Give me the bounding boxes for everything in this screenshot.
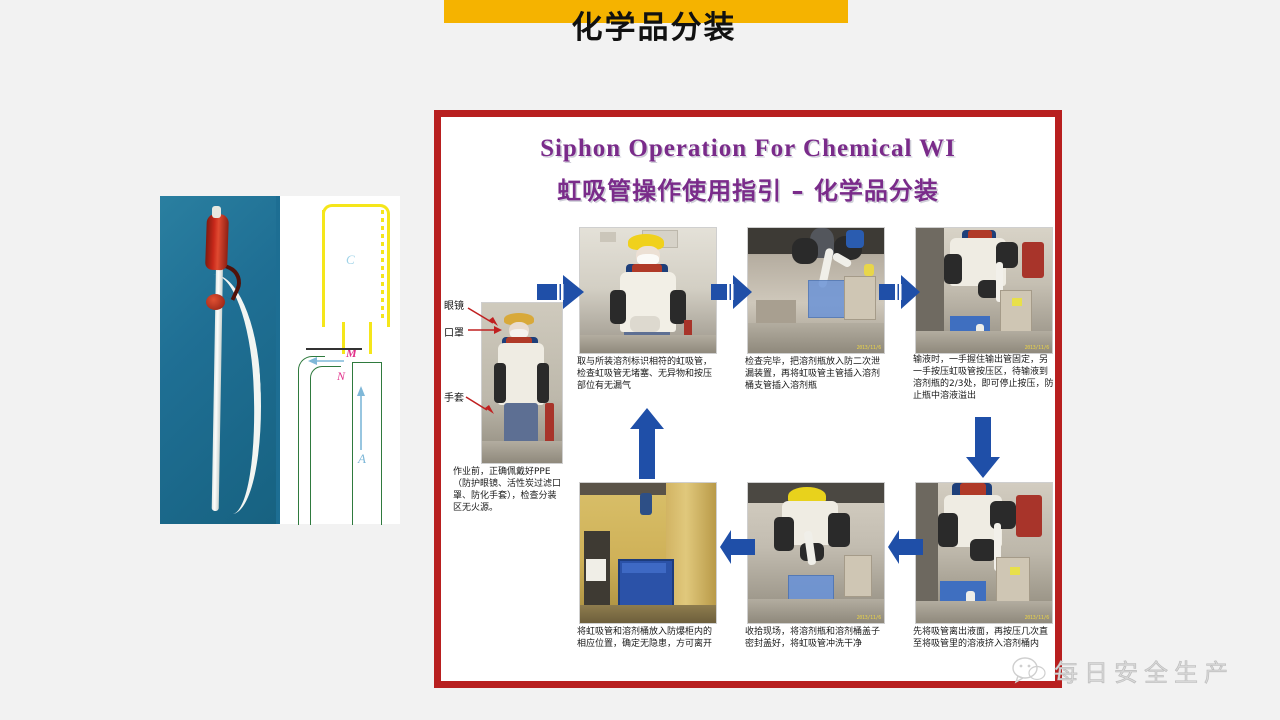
- ppe-label-mask: 口罩: [443, 324, 465, 339]
- diagram-outlet-pipe-inner: [310, 366, 341, 525]
- step-1-caption: 作业前，正确佩戴好PPE（防护眼镜、活性炭过滤口罩、防化手套），检查分装区无火源…: [453, 467, 565, 515]
- siphon-tube-curve: [196, 273, 267, 516]
- watermark-text: 每日安全生产: [1054, 653, 1234, 688]
- diagram-bulb-outline: [322, 204, 390, 327]
- wechat-bubble-icon: [1012, 655, 1046, 685]
- poster-heading-english: Siphon Operation For Chemical WI: [441, 135, 1055, 163]
- step-4-photo: 2013/11/6: [915, 227, 1053, 354]
- watermark: 每日安全生产: [1012, 648, 1268, 692]
- flow-arrow-5-to-6: [887, 529, 923, 565]
- siphon-bulb-tip: [212, 206, 221, 218]
- page-title: 化学品分装: [444, 1, 864, 47]
- step-6-caption: 收拾现场，将溶剂瓶和溶剂桶盖子密封盖好，将虹吸管冲洗干净: [745, 627, 887, 651]
- step-6-date-stamp: 2013/11/6: [857, 615, 881, 621]
- flow-arrow-3-to-4: [879, 274, 921, 310]
- step-5-date-stamp: 2013/11/6: [1025, 615, 1049, 621]
- poster-panel: Siphon Operation For Chemical WI 虹吸管操作使用…: [434, 110, 1062, 688]
- siphon-pump-photo: [160, 196, 276, 524]
- ppe-label-gloves: 手套: [443, 389, 465, 404]
- diagram-bulb-zigzag-right: [381, 210, 384, 322]
- flow-arrow-7-to-2: [629, 407, 665, 479]
- ppe-arrow-mask: [467, 325, 503, 335]
- step-5-photo: 2013/11/6: [915, 482, 1053, 624]
- flow-arrow-4-to-5: [965, 417, 1001, 479]
- step-4-date-stamp: 2013/11/6: [1025, 345, 1049, 351]
- flow-arrow-2-to-3: [711, 274, 753, 310]
- step-4-caption: 输液时，一手握住输出管固定，另一手按压虹吸管按压区，待输液到溶剂瓶的2/3处，即…: [913, 355, 1055, 403]
- step-3-caption: 检查完毕，把溶剂瓶放入防二次泄漏装置，再将虹吸管主管插入溶剂桶支管插入溶剂瓶: [745, 357, 887, 393]
- step-2-photo: [579, 227, 717, 354]
- ppe-label-goggles: 眼镜: [443, 297, 465, 312]
- step-2-caption: 取与所装溶剂标识相符的虹吸管，检查虹吸管无堵塞、无异物和按压部位有无漏气: [577, 357, 719, 393]
- step-7-photo: [579, 482, 717, 624]
- siphon-collar: [206, 294, 225, 310]
- left-figure-group: C M N A: [160, 196, 400, 524]
- step-3-date-stamp: 2013/11/6: [857, 345, 881, 351]
- siphon-principle-diagram: C M N A: [276, 196, 400, 524]
- ppe-arrow-gloves: [465, 395, 495, 415]
- diagram-flow-arrow-in: [356, 386, 366, 450]
- diagram-cap-line: [306, 348, 362, 350]
- step-6-photo: 2013/11/6: [747, 482, 885, 624]
- siphon-bulb: [205, 214, 229, 271]
- ppe-arrow-goggles: [467, 303, 499, 327]
- diagram-flow-arrow-out: [308, 356, 344, 366]
- diagram-bulb-zigzag-left: [322, 210, 325, 322]
- poster-heading-chinese: 虹吸管操作使用指引 – 化学品分装: [441, 171, 1055, 206]
- flow-arrow-6-to-7: [719, 529, 755, 565]
- flow-arrow-1-to-2: [537, 274, 585, 310]
- step-3-photo: 2013/11/6: [747, 227, 885, 354]
- diagram-label-c: C: [346, 252, 355, 268]
- step-7-caption: 将虹吸管和溶剂桶放入防爆柜内的相应位置，确定无隐患，方可离开: [577, 627, 719, 651]
